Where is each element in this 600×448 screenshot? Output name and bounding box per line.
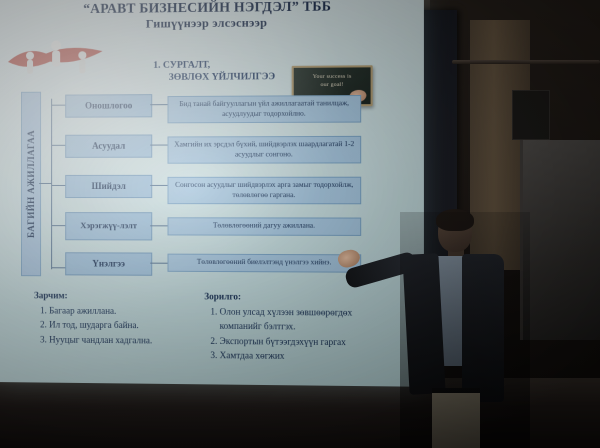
stage-description: Төлөвлөгөөний дагуу ажиллана. [167,217,361,235]
list-item: Олон улсад хүлээн зөвшөөрөгдөх компанийг… [220,305,396,335]
stage-description: Төлөвлөгөөний биелэлтэнд үнэлгээ хийнэ. [167,254,361,273]
bracket-stem [39,183,52,184]
presenter-jacket-right [462,254,504,402]
stage-description: Сонгосон асуудлыг шийдвэрлэх арга замыг … [167,177,361,205]
stage-box: Асуудал [65,134,152,157]
principles-heading: Зарчим: [34,288,206,303]
speaker-box [512,90,550,140]
stage-box: Шийдэл [65,175,152,198]
goals-column: Зорилго: Олон улсад хүлээн зөвшөөрөгдөх … [204,289,395,364]
stage-box: Оношлогоо [65,94,152,118]
section-heading-line2: ЗӨВЛӨХ ҮЙЛЧИЛГЭЭ [145,72,299,85]
goals-heading: Зорилго: [204,289,395,305]
presenter-hair [436,209,474,231]
stage-connector [150,263,168,264]
presenter-trousers [432,393,480,448]
stage-box: Хэрэгжүү-лэлт [65,212,152,240]
principles-column: Зарчим: Багаар ажиллана. Ил тод, шударга… [34,288,206,348]
principles-list: Багаар ажиллана. Ил тод, шударга байна. … [34,303,206,347]
stage-connector [150,145,168,146]
slide-title: “АРАВТ БИЗНЕСИЙН НЭГДЭЛ” ТББ Гишүүнээр э… [0,0,424,33]
list-item: Нууцыг чандлан хадгална. [49,332,206,348]
list-item: Хамтдаа хөгжих [220,348,396,364]
stage-label: Үнэлгээ [92,259,125,269]
stage-description: Хамгийн их эрсдэл бүхий, шийдвэрлэх шаар… [167,136,361,164]
section-heading: 1. СУРГАЛТ, ЗӨВЛӨХ ҮЙЛЧИЛГЭЭ [145,60,299,85]
whiteboard [520,140,600,340]
presenter [400,212,530,448]
stage-connector [150,104,168,105]
list-item: Ил тод, шударга байна. [49,318,206,334]
stage-label: Оношлогоо [85,101,132,111]
section-heading-line1: 1. СУРГАЛТ, [145,60,299,73]
vertical-label-text: БАГИЙН АЖИЛЛАГАА [26,130,36,238]
goals-list: Олон улсад хүлээн зөвшөөрөгдөх компанийг… [204,305,395,364]
presenter-jacket-left [402,253,445,395]
list-item: Экспортын бүтээгдэхүүн гаргах [220,334,396,350]
stage-description: Бид танай байгууллагын үйл ажиллагаатай … [167,95,361,124]
stage-label: Шийдэл [92,182,126,192]
stage-label: Асуудал [92,141,125,151]
stage-label: Хэрэгжүү-лэлт [80,222,137,231]
organization-logo-icon [6,31,107,84]
list-item: Багаар ажиллана. [49,304,206,319]
stage-box: Үнэлгээ [65,252,152,276]
stage-connector [150,185,168,186]
curtain-rod [452,60,600,64]
bracket-connector [51,99,66,270]
photo-scene: “АРАВТ БИЗНЕСИЙН НЭГДЭЛ” ТББ Гишүүнээр э… [0,0,600,448]
vertical-label-team-work: БАГИЙН АЖИЛЛАГАА [21,92,41,277]
slide-title-line2: Гишүүнээр элсэснээр [0,14,424,33]
stage-connector [150,225,168,226]
projection-screen: “АРАВТ БИЗНЕСИЙН НЭГДЭЛ” ТББ Гишүүнээр э… [0,0,424,387]
